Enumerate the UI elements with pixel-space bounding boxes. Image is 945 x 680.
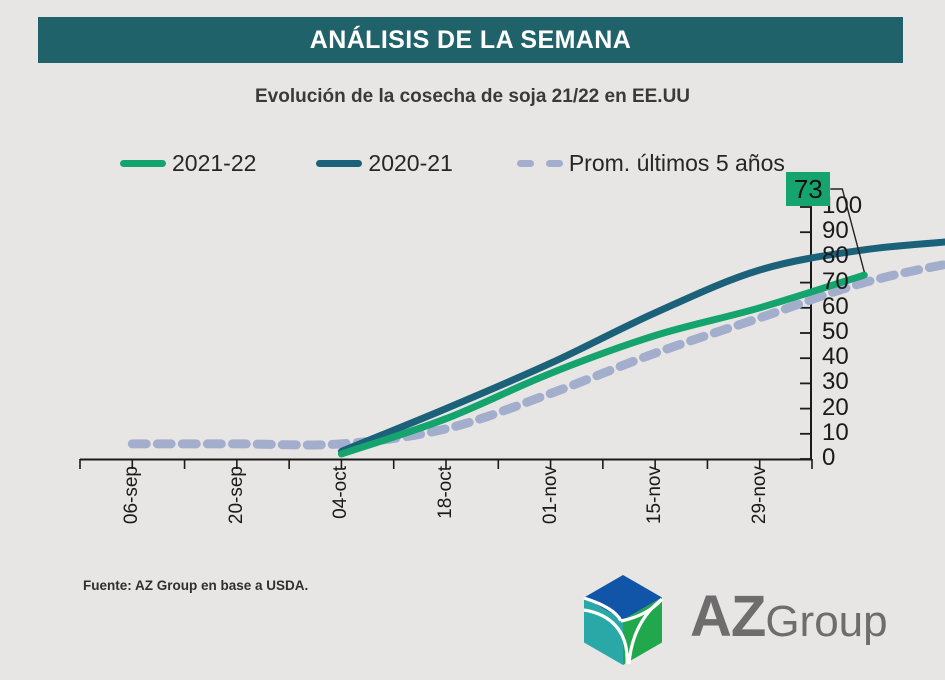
y-axis-labels: 1009080706050403020100 <box>822 186 932 476</box>
line-swatch-icon <box>120 160 166 167</box>
logo-az-text: AZ <box>690 584 765 649</box>
header-banner: ANÁLISIS DE LA SEMANA <box>38 17 903 63</box>
y-tick-label: 10 <box>822 421 849 445</box>
y-tick-label: 90 <box>822 219 849 243</box>
data-label-73: 73 <box>786 172 830 206</box>
x-tick-label: 20-sep <box>226 466 248 524</box>
y-tick-label: 60 <box>822 295 849 319</box>
x-axis-labels: 06-sep20-sep04-oct18-oct01-nov15-nov29-n… <box>0 466 945 566</box>
series-line-2021-22 <box>341 275 864 454</box>
y-tick-label: 40 <box>822 345 849 369</box>
x-tick-label: 15-nov <box>644 466 666 524</box>
legend-item-2020-21[interactable]: 2020-21 <box>316 150 452 177</box>
logo-group-text: Group <box>765 597 887 646</box>
chart-legend: 2021-22 2020-21 Prom. últimos 5 años <box>120 146 820 180</box>
dashed-line-swatch-icon <box>517 160 563 167</box>
cube-logo-icon <box>568 570 678 670</box>
chart-plot-area <box>0 186 945 476</box>
y-tick-label: 20 <box>822 396 849 420</box>
x-tick-label: 06-sep <box>121 466 143 524</box>
source-note: Fuente: AZ Group en base a USDA. <box>83 578 308 593</box>
legend-item-prom-5-anos[interactable]: Prom. últimos 5 años <box>517 150 785 177</box>
x-tick-label: 01-nov <box>540 466 562 524</box>
y-tick-label: 80 <box>822 244 849 268</box>
x-tick-label: 29-nov <box>749 466 771 524</box>
legend-label: 2020-21 <box>368 150 452 177</box>
legend-label: 2021-22 <box>172 150 256 177</box>
banner-title: ANÁLISIS DE LA SEMANA <box>310 26 631 55</box>
line-chart-svg <box>0 186 945 476</box>
legend-item-2021-22[interactable]: 2021-22 <box>120 150 256 177</box>
y-tick-label: 30 <box>822 370 849 394</box>
y-tick-label: 70 <box>822 270 849 294</box>
az-group-logo: AZGroup <box>568 570 918 670</box>
line-swatch-icon <box>316 160 362 167</box>
logo-wordmark: AZGroup <box>690 586 888 653</box>
chart-title: Evolución de la cosecha de soja 21/22 en… <box>0 86 945 108</box>
legend-label: Prom. últimos 5 años <box>569 150 785 177</box>
x-tick-label: 18-oct <box>435 466 457 519</box>
y-tick-label: 50 <box>822 320 849 344</box>
x-tick-label: 04-oct <box>330 466 352 519</box>
